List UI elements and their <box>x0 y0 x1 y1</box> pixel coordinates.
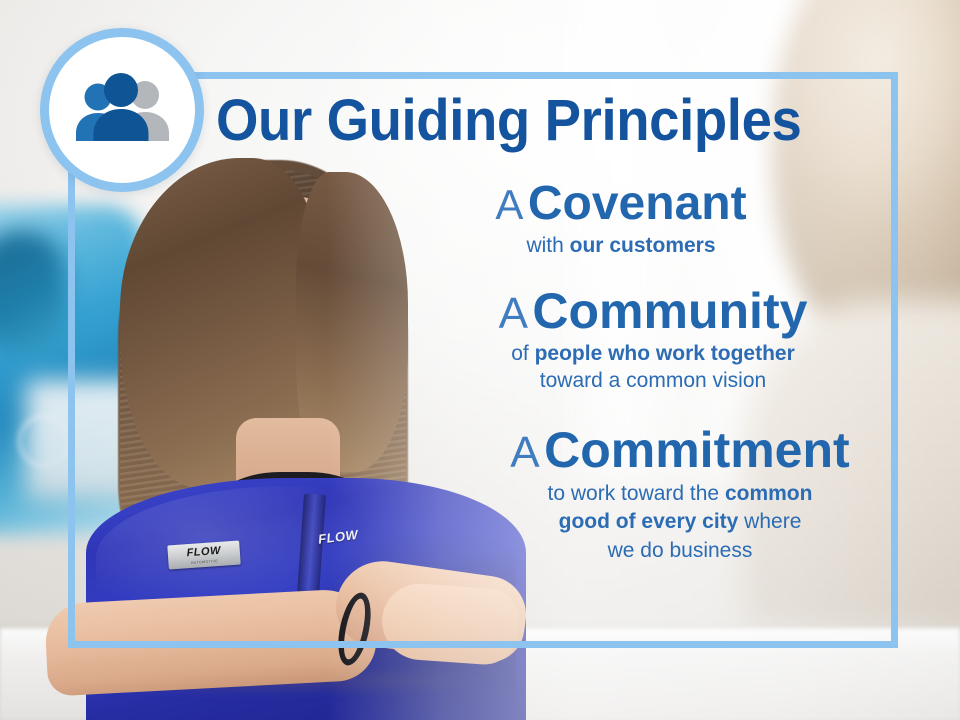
sub-line3: we do business <box>608 539 753 562</box>
principle-community-title: A Community <box>416 286 890 337</box>
sub-bold-a: people who work together <box>535 342 795 365</box>
principle-article: A <box>495 181 523 228</box>
sub-plain-a: of <box>511 342 534 365</box>
sub-plain-a: to work toward the <box>548 482 725 505</box>
principle-article: A <box>499 289 528 338</box>
principle-community-subtitle: of people who work together toward a com… <box>416 341 890 395</box>
sub-bold-b: good of every city <box>559 510 739 533</box>
principle-commitment-subtitle: to work toward the common good of every … <box>470 480 890 566</box>
principle-commitment-title: A Commitment <box>470 425 890 476</box>
sub-plain-a: with <box>526 234 569 257</box>
sub-bold-a: our customers <box>570 234 716 257</box>
principle-word: Community <box>532 283 807 339</box>
page-title: Our Guiding Principles <box>216 92 801 150</box>
people-group-icon <box>70 71 174 149</box>
sub-bold-a: common <box>725 482 813 505</box>
sub-plain-b: where <box>738 510 801 533</box>
principle-commitment: A Commitment to work toward the common g… <box>470 425 890 566</box>
principles-list: A Covenant with our customers A Communit… <box>330 180 890 569</box>
sub-line2: toward a common vision <box>540 369 766 392</box>
principle-word: Commitment <box>544 422 850 478</box>
principle-word: Covenant <box>528 177 747 230</box>
principle-article: A <box>510 428 539 477</box>
principle-covenant-subtitle: with our customers <box>352 233 890 260</box>
people-group-badge <box>40 28 204 192</box>
principle-community: A Community of people who work together … <box>416 286 890 395</box>
principle-covenant-title: A Covenant <box>352 180 890 229</box>
banner-image: FLOW FLOW AUTOMOTIVE <box>0 0 960 720</box>
principle-covenant: A Covenant with our customers <box>352 180 890 260</box>
